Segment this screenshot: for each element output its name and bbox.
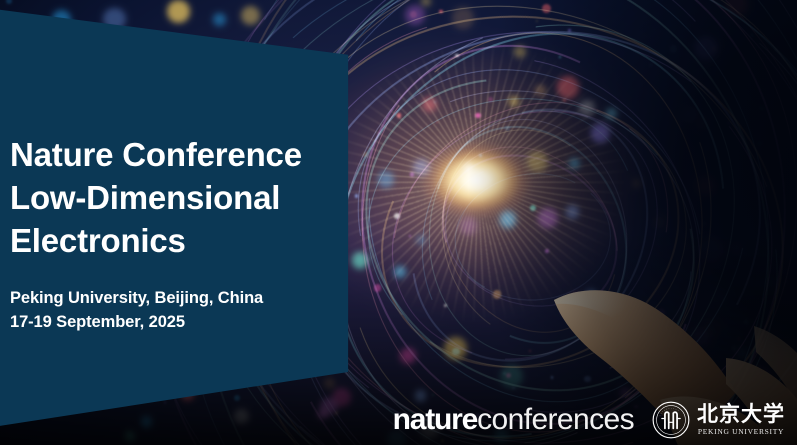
bokeh-dot xyxy=(335,411,338,414)
bokeh-dot xyxy=(786,281,788,283)
title-line-1: Nature Conference xyxy=(10,133,350,176)
peking-university-logo: · · · · · · · · · · 北京大学 PEKING UNIVERSI… xyxy=(652,401,785,439)
bokeh-dot xyxy=(125,431,135,441)
title-line-3: Electronics xyxy=(10,219,350,262)
peking-university-chinese-name: 北京大学 xyxy=(697,404,785,425)
logo-bar: nature conferences · · · · · · · · · · 北… xyxy=(393,401,785,439)
peking-university-seal-icon: · · · · · · · · · · xyxy=(652,401,690,439)
bokeh-dot xyxy=(759,180,771,192)
bokeh-dot xyxy=(768,223,770,225)
peking-university-name: 北京大学 PEKING UNIVERSITY xyxy=(697,404,785,436)
event-location: Peking University, Beijing, China xyxy=(10,286,350,310)
bokeh-dot xyxy=(318,409,328,419)
bokeh-dot xyxy=(775,49,777,51)
title-line-2: Low-Dimensional xyxy=(10,176,350,219)
bokeh-dot xyxy=(6,0,12,4)
bokeh-dot xyxy=(164,401,166,403)
bokeh-dot xyxy=(167,0,190,23)
bokeh-dot xyxy=(763,277,775,289)
bokeh-dot xyxy=(790,399,793,402)
bokeh-dot xyxy=(760,107,763,110)
core-glow-point xyxy=(336,60,616,300)
bokeh-dot xyxy=(441,440,443,442)
page-title: Nature Conference Low-Dimensional Electr… xyxy=(10,133,350,262)
event-dates: 17-19 September, 2025 xyxy=(10,310,350,334)
nature-brand-word: nature xyxy=(393,405,478,435)
peking-university-english-name: PEKING UNIVERSITY xyxy=(698,428,784,436)
bokeh-dot xyxy=(778,173,781,176)
nature-product-word: conferences xyxy=(477,405,634,435)
bokeh-dot xyxy=(751,34,753,36)
event-details: Peking University, Beijing, China 17-19 … xyxy=(10,286,350,334)
bokeh-dot xyxy=(748,366,772,390)
nature-conferences-logo: nature conferences xyxy=(393,405,634,435)
bokeh-dot xyxy=(234,409,249,424)
bokeh-dot xyxy=(141,416,153,428)
conference-banner: Nature Conference Low-Dimensional Electr… xyxy=(0,0,797,445)
bokeh-dot xyxy=(758,142,761,145)
